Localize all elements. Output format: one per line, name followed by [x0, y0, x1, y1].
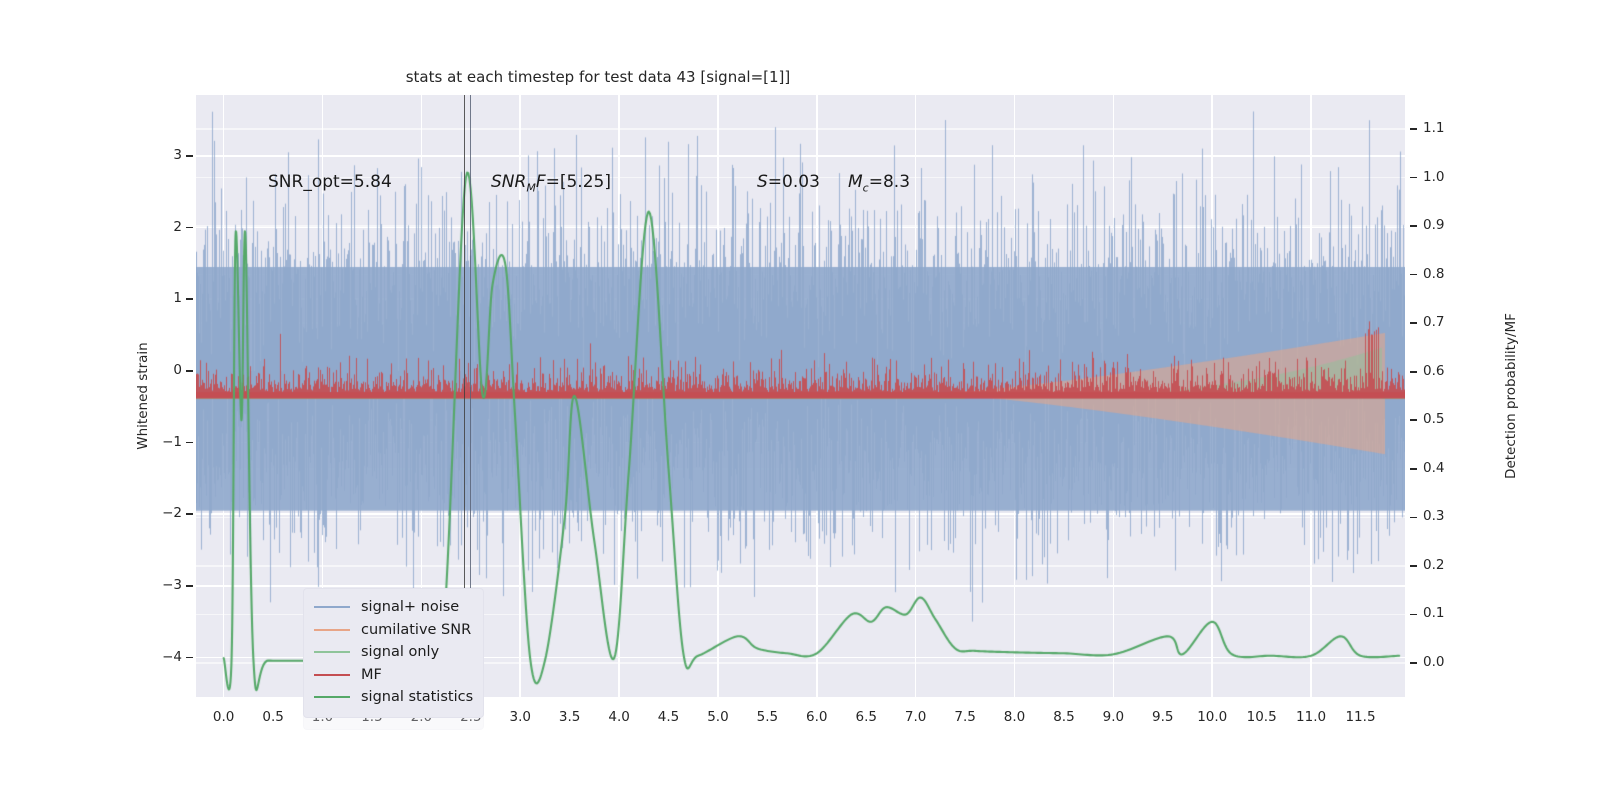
y-tick-right-label: 1.1	[1423, 120, 1444, 136]
legend-swatch-f0	[314, 606, 350, 608]
legend-item[interactable]: cumilative SNR	[314, 619, 473, 642]
y-tick-right-label: 1.0	[1423, 169, 1444, 185]
y-axis-right-label: Detection probability/MF	[1498, 0, 1524, 800]
legend-swatch-f3	[314, 674, 350, 676]
tick-mark	[186, 513, 193, 515]
legend-item[interactable]: MF	[314, 664, 473, 687]
legend-label: signal only	[361, 644, 439, 660]
tick-mark	[186, 370, 193, 372]
tick-mark	[1410, 322, 1417, 324]
tick-mark	[1410, 662, 1417, 664]
legend-swatch-f4	[314, 696, 350, 698]
legend-label: signal statistics	[361, 689, 473, 705]
annotation-s-stat: S=0.03	[757, 172, 820, 192]
x-tick-label: 0.5	[262, 709, 283, 725]
tick-mark	[1410, 225, 1417, 227]
x-tick-label: 9.5	[1152, 709, 1173, 725]
y-axis-left-label: Whitened strain	[130, 0, 156, 800]
y-tick-right-label: 0.3	[1423, 508, 1444, 524]
x-tick-label: 0.0	[213, 709, 234, 725]
tick-mark	[1410, 614, 1417, 616]
y-axis-right-label-text: Detection probability/MF	[1503, 313, 1519, 479]
legend-label: cumilative SNR	[361, 622, 471, 638]
tick-mark	[1410, 419, 1417, 421]
x-tick-label: 7.5	[954, 709, 975, 725]
tick-mark	[1410, 177, 1417, 179]
tick-mark	[1410, 517, 1417, 519]
x-tick-label: 6.0	[806, 709, 827, 725]
y-tick-left-label: −4	[162, 649, 182, 665]
page-title: stats at each timestep for test data 43 …	[0, 68, 1600, 86]
legend-label: MF	[361, 667, 382, 683]
tick-mark	[1410, 371, 1417, 373]
legend-swatch-f1	[314, 629, 350, 631]
tick-mark	[1410, 274, 1417, 276]
y-tick-left-label: −3	[162, 577, 182, 593]
y-tick-left-label: 1	[173, 290, 182, 306]
x-tick-label: 3.0	[509, 709, 530, 725]
tick-mark	[186, 298, 193, 300]
legend-label: signal+ noise	[361, 599, 459, 615]
x-tick-label: 9.0	[1103, 709, 1124, 725]
x-tick-label: 6.5	[855, 709, 876, 725]
legend[interactable]: signal+ noisecumilative SNRsignal onlyMF…	[303, 588, 484, 718]
x-tick-label: 5.0	[707, 709, 728, 725]
x-tick-label: 4.0	[608, 709, 629, 725]
x-tick-label: 11.0	[1296, 709, 1326, 725]
y-tick-right-label: 0.7	[1423, 314, 1444, 330]
annotation-snr-mf: SNRMF=[5.25]	[491, 172, 611, 194]
y-tick-right-label: 0.1	[1423, 605, 1444, 621]
plot-title-text: stats at each timestep for test data 43 …	[406, 68, 791, 86]
y-tick-right-label: 0.6	[1423, 363, 1444, 379]
y-tick-right-label: 0.9	[1423, 217, 1444, 233]
tick-mark	[186, 585, 193, 587]
tick-mark	[1410, 565, 1417, 567]
tick-mark	[1410, 128, 1417, 130]
tick-mark	[186, 442, 193, 444]
figure-root: stats at each timestep for test data 43 …	[0, 0, 1600, 800]
x-tick-label: 5.5	[757, 709, 778, 725]
y-tick-right-label: 0.4	[1423, 460, 1444, 476]
y-tick-right-label: 0.8	[1423, 266, 1444, 282]
x-tick-label: 11.5	[1345, 709, 1375, 725]
y-tick-right-label: 0.5	[1423, 411, 1444, 427]
tick-mark	[186, 227, 193, 229]
y-tick-left-label: −2	[162, 505, 182, 521]
y-tick-left-label: −1	[162, 434, 182, 450]
y-tick-right-label: 0.2	[1423, 557, 1444, 573]
y-tick-left-label: 2	[173, 219, 182, 235]
annotation-chirp-mass: Mc=8.3	[848, 172, 910, 194]
legend-swatch-f2	[314, 651, 350, 653]
x-tick-label: 10.0	[1197, 709, 1227, 725]
x-tick-label: 8.5	[1053, 709, 1074, 725]
x-tick-label: 7.0	[905, 709, 926, 725]
legend-item[interactable]: signal+ noise	[314, 596, 473, 619]
annotation-snr-opt: SNR_opt=5.84	[268, 172, 392, 192]
tick-mark	[186, 657, 193, 659]
y-tick-right-label: 0.0	[1423, 654, 1444, 670]
tick-mark	[186, 155, 193, 157]
y-axis-left-label-text: Whitened strain	[135, 342, 151, 449]
y-tick-left-label: 0	[173, 362, 182, 378]
x-tick-label: 8.0	[1004, 709, 1025, 725]
y-tick-left-label: 3	[173, 147, 182, 163]
tick-mark	[1410, 468, 1417, 470]
x-tick-label: 10.5	[1247, 709, 1277, 725]
legend-item[interactable]: signal statistics	[314, 686, 473, 709]
legend-item[interactable]: signal only	[314, 641, 473, 664]
x-tick-label: 3.5	[559, 709, 580, 725]
x-tick-label: 4.5	[658, 709, 679, 725]
